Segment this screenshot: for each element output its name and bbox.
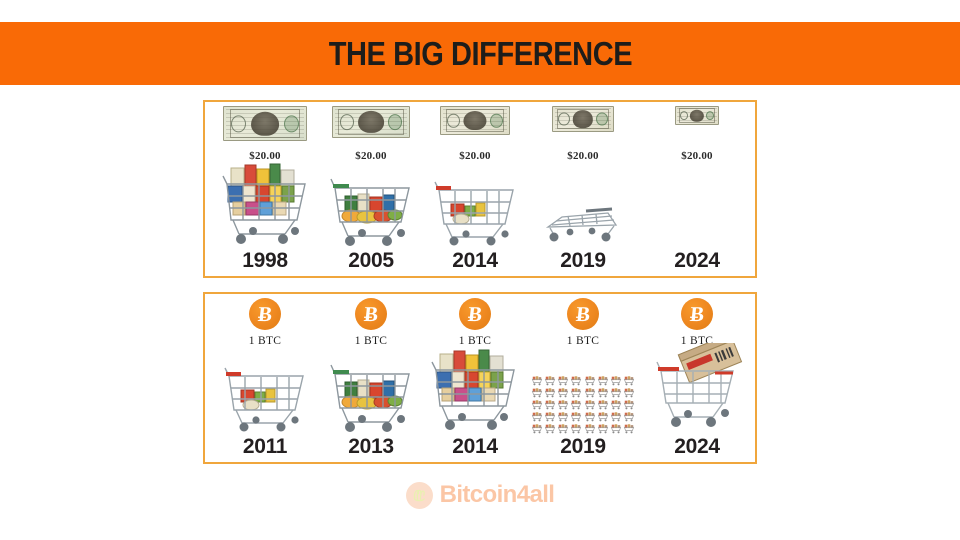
usd-column-2019: $20.00 — [527, 102, 639, 276]
shopping-cart-overflowing-icon — [219, 160, 311, 246]
btc-column-2011: Ƀ 1 BTC — [211, 294, 319, 462]
mini-cart-icon — [584, 411, 596, 422]
dollar-bill-icon — [332, 106, 410, 138]
amount-label: 1 BTC — [567, 335, 600, 347]
mini-cart-icon — [584, 423, 596, 434]
cart-art-full — [421, 347, 529, 436]
amount-label: $20.00 — [459, 150, 490, 162]
bitcoin-logo-icon: Ƀ — [249, 298, 281, 330]
coin-slot: Ƀ — [317, 294, 425, 334]
year-label: 2019 — [560, 250, 606, 276]
usd-panel: $20.00 — [203, 100, 757, 278]
mini-cart-grid — [531, 375, 635, 434]
mini-cart-icon — [570, 411, 582, 422]
cart-art-crushed — [527, 162, 639, 250]
mini-cart-icon — [544, 375, 556, 386]
bill-slot — [211, 102, 319, 148]
mini-cart-icon — [623, 423, 635, 434]
bill-slot — [317, 102, 425, 148]
brand-name: Bitcoin4all — [440, 481, 555, 509]
mini-cart-icon — [570, 423, 582, 434]
mini-cart-icon — [584, 387, 596, 398]
usd-column-2014: $20.00 — [421, 102, 529, 276]
cart-art-full — [211, 162, 319, 250]
mini-cart-icon — [584, 375, 596, 386]
mini-cart-icon — [544, 399, 556, 410]
cart-art-half — [317, 162, 425, 250]
mini-cart-icon — [623, 411, 635, 422]
mini-cart-icon — [531, 375, 543, 386]
year-label: 2014 — [452, 250, 498, 276]
amount-label: $20.00 — [681, 150, 712, 162]
header-banner: THE BIG DIFFERENCE — [0, 22, 960, 85]
mini-cart-icon — [597, 423, 609, 434]
mini-cart-icon — [610, 375, 622, 386]
mini-cart-icon — [557, 399, 569, 410]
mini-cart-icon — [584, 399, 596, 410]
amount-label: $20.00 — [567, 150, 598, 162]
amount-label: $20.00 — [355, 150, 386, 162]
mini-cart-icon — [623, 387, 635, 398]
bitcoin-logo-icon: Ƀ — [681, 298, 713, 330]
usd-column-1998: $20.00 — [211, 102, 319, 276]
shopping-cart-crushed-icon — [542, 207, 624, 243]
mini-cart-icon — [544, 423, 556, 434]
mini-cart-icon — [570, 375, 582, 386]
mini-cart-icon — [570, 399, 582, 410]
mini-cart-icon — [597, 411, 609, 422]
shopping-cart-overflowing-icon — [428, 348, 522, 432]
dollar-bill-icon — [440, 106, 510, 135]
bitcoin-logo-icon: Ƀ — [459, 298, 491, 330]
shopping-cart-nearly-empty-icon — [429, 170, 521, 246]
coin-slot: Ƀ — [421, 294, 529, 334]
mini-cart-icon — [597, 375, 609, 386]
bill-slot — [421, 102, 529, 148]
year-label: 1998 — [242, 250, 288, 276]
cart-art-half — [317, 347, 425, 436]
year-label: 2011 — [243, 436, 287, 462]
page-title: THE BIG DIFFERENCE — [328, 35, 631, 73]
shopping-cart-with-large-box-icon — [645, 343, 749, 429]
amount-label: 1 BTC — [459, 335, 492, 347]
year-label: 2019 — [560, 436, 606, 462]
mini-cart-icon — [610, 399, 622, 410]
shopping-cart-nearly-empty-icon — [219, 358, 311, 432]
mini-cart-icon — [531, 387, 543, 398]
cart-art-few — [421, 162, 529, 250]
amount-label: 1 BTC — [249, 335, 282, 347]
mini-cart-icon — [570, 387, 582, 398]
coin-slot: Ƀ — [211, 294, 319, 334]
bitcoin-logo-icon: Ƀ — [567, 298, 599, 330]
year-label: 2005 — [348, 250, 394, 276]
dollar-bill-icon — [223, 106, 307, 141]
bill-slot — [641, 102, 753, 148]
mini-cart-icon — [544, 387, 556, 398]
dollar-bill-icon — [675, 106, 719, 125]
bitcoin4all-logo-icon — [406, 482, 433, 509]
dollar-bill-icon — [552, 106, 614, 132]
coin-slot: Ƀ — [641, 294, 753, 334]
year-label: 2024 — [674, 436, 720, 462]
mini-cart-icon — [531, 411, 543, 422]
btc-column-2019: Ƀ 1 BTC — [527, 294, 639, 462]
mini-cart-icon — [623, 399, 635, 410]
mini-cart-icon — [610, 423, 622, 434]
shopping-cart-half-full-icon — [325, 166, 417, 246]
mini-cart-icon — [557, 423, 569, 434]
mini-cart-icon — [597, 387, 609, 398]
usd-column-2005: $20.00 — [317, 102, 425, 276]
btc-column-2024: Ƀ 1 BTC — [641, 294, 753, 462]
bitcoin-logo-icon: Ƀ — [355, 298, 387, 330]
bill-slot — [527, 102, 639, 148]
mini-cart-icon — [557, 411, 569, 422]
btc-panel: Ƀ 1 BTC — [203, 292, 757, 464]
year-label: 2024 — [674, 250, 720, 276]
btc-column-2014: Ƀ 1 BTC — [421, 294, 529, 462]
mini-cart-icon — [531, 423, 543, 434]
shopping-cart-half-full-icon — [325, 354, 417, 432]
footer-branding: Bitcoin4all — [0, 475, 960, 515]
mini-cart-icon — [531, 399, 543, 410]
mini-cart-icon — [610, 411, 622, 422]
mini-cart-icon — [623, 375, 635, 386]
year-label: 2013 — [348, 436, 394, 462]
year-label: 2014 — [452, 436, 498, 462]
mini-cart-icon — [610, 387, 622, 398]
coin-slot: Ƀ — [527, 294, 639, 334]
usd-column-2024: $20.00 2024 — [641, 102, 753, 276]
mini-cart-icon — [597, 399, 609, 410]
mini-cart-icon — [557, 375, 569, 386]
amount-label: 1 BTC — [355, 335, 388, 347]
cart-art-none — [641, 162, 753, 250]
cart-art-many — [527, 347, 639, 436]
cart-art-box — [641, 347, 753, 436]
cart-art-few — [211, 347, 319, 436]
mini-cart-icon — [544, 411, 556, 422]
btc-column-2013: Ƀ 1 BTC — [317, 294, 425, 462]
mini-cart-icon — [557, 387, 569, 398]
